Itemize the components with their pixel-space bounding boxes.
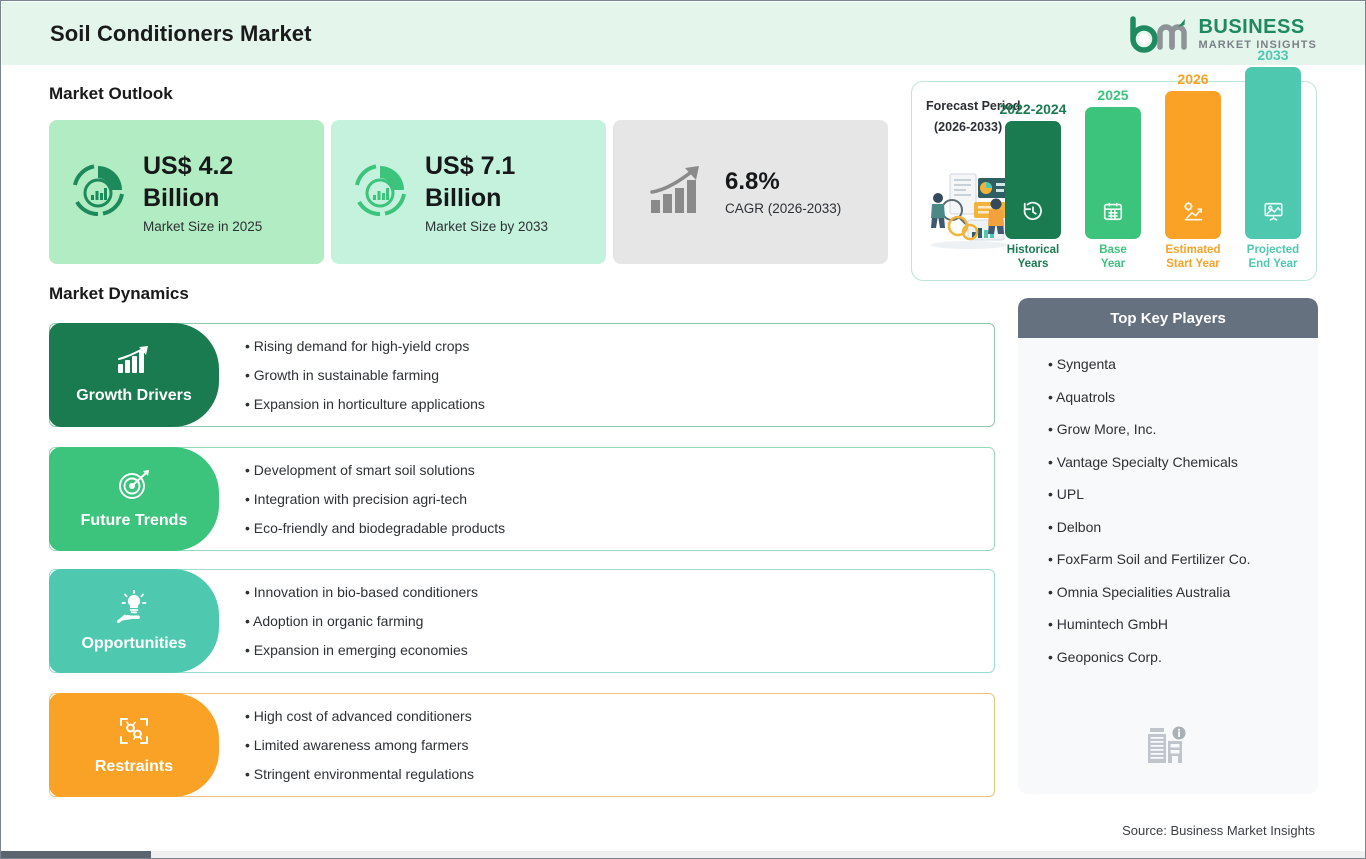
calendar-icon bbox=[1085, 200, 1141, 227]
bar-caption-line2: End Year bbox=[1245, 257, 1301, 271]
dynamics-points: • Innovation in bio-based conditioners •… bbox=[245, 569, 478, 673]
dynamics-tab-label: Restraints bbox=[95, 758, 173, 776]
dynamics-point: • Growth in sustainable farming bbox=[245, 367, 485, 383]
dynamics-tab-future-trends[interactable]: Future Trends bbox=[49, 447, 219, 551]
dynamics-points: • Development of smart soil solutions • … bbox=[245, 447, 505, 551]
dynamics-point: • Innovation in bio-based conditioners bbox=[245, 584, 478, 600]
bar-caption-line1: Base bbox=[1085, 243, 1141, 257]
forecast-bar-chart: 2022-2024 Historical Years 2025 bbox=[1001, 85, 1321, 285]
key-players-title: Top Key Players bbox=[1018, 298, 1318, 338]
dynamics-tab-label: Future Trends bbox=[81, 512, 188, 530]
page-header: Soil Conditioners Market BUSINESS MARKET… bbox=[2, 2, 1365, 65]
donut-bar-chart-icon bbox=[351, 161, 409, 224]
outlook-caption: Market Size in 2025 bbox=[143, 219, 262, 234]
bar-caption: Base Year bbox=[1085, 243, 1141, 272]
outlook-card-market-size-2033: US$ 7.1 Billion Market Size by 2033 bbox=[331, 120, 606, 264]
bar-chart-arrow-icon bbox=[117, 346, 151, 381]
scrollbar-thumb[interactable] bbox=[1, 851, 151, 858]
logo-wordmark: BUSINESS MARKET INSIGHTS bbox=[1198, 17, 1317, 51]
list-item: • Omnia Specialities Australia bbox=[1048, 584, 1318, 600]
lightbulb-hand-icon bbox=[116, 590, 152, 629]
bar-year-label: 2026 bbox=[1165, 71, 1221, 87]
bar-caption-line2: Start Year bbox=[1165, 257, 1221, 271]
list-item: • Vantage Specialty Chemicals bbox=[1048, 454, 1318, 470]
horizontal-scrollbar[interactable] bbox=[1, 851, 1366, 858]
company-building-info-icon bbox=[1146, 723, 1190, 772]
dynamics-points: • High cost of advanced conditioners • L… bbox=[245, 693, 474, 797]
bar-caption-line2: Years bbox=[1005, 257, 1061, 271]
outlook-value: US$ 4.2 bbox=[143, 150, 262, 182]
bar-caption-line1: Historical bbox=[1005, 243, 1061, 257]
dynamics-row-growth-drivers: Growth Drivers • Rising demand for high-… bbox=[49, 323, 995, 427]
dynamics-point: • Development of smart soil solutions bbox=[245, 462, 505, 478]
dynamics-point: • High cost of advanced conditioners bbox=[245, 708, 474, 724]
market-outlook-title: Market Outlook bbox=[49, 84, 173, 104]
outlook-caption: Market Size by 2033 bbox=[425, 219, 548, 234]
dynamics-point: • Adoption in organic farming bbox=[245, 613, 478, 629]
history-clock-icon bbox=[1005, 200, 1061, 227]
bar-rect bbox=[1165, 91, 1221, 239]
bar-rect bbox=[1085, 107, 1141, 239]
bar-rect bbox=[1005, 121, 1061, 239]
bar-caption-line1: Estimated bbox=[1165, 243, 1221, 257]
bar-caption-line2: Year bbox=[1085, 257, 1141, 271]
dynamics-points: • Rising demand for high-yield crops • G… bbox=[245, 323, 485, 427]
donut-bar-chart-icon bbox=[69, 161, 127, 224]
bar-caption: Estimated Start Year bbox=[1165, 243, 1221, 272]
list-item: • Geoponics Corp. bbox=[1048, 649, 1318, 665]
dynamics-point: • Limited awareness among farmers bbox=[245, 737, 474, 753]
dynamics-tab-restraints[interactable]: Restraints bbox=[49, 693, 219, 797]
top-key-players-panel: Top Key Players • Syngenta • Aquatrols •… bbox=[1018, 298, 1318, 794]
target-dart-icon bbox=[117, 469, 151, 506]
bar-rect bbox=[1245, 67, 1301, 239]
list-item: • FoxFarm Soil and Fertilizer Co. bbox=[1048, 551, 1318, 567]
brand-logo: BUSINESS MARKET INSIGHTS bbox=[1127, 15, 1349, 53]
page-title: Soil Conditioners Market bbox=[50, 21, 312, 47]
outlook-card-market-size-2025: US$ 4.2 Billion Market Size in 2025 bbox=[49, 120, 324, 264]
list-item: • Grow More, Inc. bbox=[1048, 421, 1318, 437]
dynamics-tab-label: Opportunities bbox=[82, 635, 187, 653]
presentation-chart-icon bbox=[1245, 200, 1301, 227]
network-scan-icon bbox=[117, 715, 151, 752]
outlook-unit: Billion bbox=[143, 182, 262, 214]
settings-chart-icon bbox=[1165, 200, 1221, 227]
market-dynamics-title: Market Dynamics bbox=[49, 284, 189, 304]
cagr-value: 6.8% bbox=[725, 168, 841, 196]
list-item: • UPL bbox=[1048, 486, 1318, 502]
key-players-list: • Syngenta • Aquatrols • Grow More, Inc.… bbox=[1018, 338, 1318, 665]
dynamics-row-restraints: Restraints • High cost of advanced condi… bbox=[49, 693, 995, 797]
bar-caption-line1: Projected bbox=[1245, 243, 1301, 257]
dynamics-point: • Expansion in horticulture applications bbox=[245, 396, 485, 412]
dynamics-tab-growth-drivers[interactable]: Growth Drivers bbox=[49, 323, 219, 427]
list-item: • Delbon bbox=[1048, 519, 1318, 535]
bmi-logo-icon bbox=[1127, 15, 1189, 53]
outlook-value: US$ 7.1 bbox=[425, 150, 548, 182]
dynamics-row-opportunities: Opportunities • Innovation in bio-based … bbox=[49, 569, 995, 673]
dynamics-point: • Rising demand for high-yield crops bbox=[245, 338, 485, 354]
dynamics-tab-label: Growth Drivers bbox=[76, 387, 192, 405]
list-item: • Humintech GmbH bbox=[1048, 616, 1318, 632]
cagr-caption: CAGR (2026-2033) bbox=[725, 201, 841, 216]
dynamics-point: • Integration with precision agri-tech bbox=[245, 491, 505, 507]
dynamics-point: • Eco-friendly and biodegradable product… bbox=[245, 520, 505, 536]
growth-bars-arrow-icon bbox=[649, 164, 707, 221]
outlook-unit: Billion bbox=[425, 182, 548, 214]
source-note: Source: Business Market Insights bbox=[1122, 823, 1315, 838]
dynamics-row-future-trends: Future Trends • Development of smart soi… bbox=[49, 447, 995, 551]
bar-year-label: 2022-2024 bbox=[993, 101, 1073, 117]
bar-caption: Historical Years bbox=[1005, 243, 1061, 272]
bar-year-label: 2025 bbox=[1085, 87, 1141, 103]
list-item: • Syngenta bbox=[1048, 356, 1318, 372]
dynamics-point: • Expansion in emerging economies bbox=[245, 642, 478, 658]
logo-line-business: BUSINESS bbox=[1198, 17, 1317, 37]
dynamics-point: • Stringent environmental regulations bbox=[245, 766, 474, 782]
list-item: • Aquatrols bbox=[1048, 389, 1318, 405]
outlook-card-cagr: 6.8% CAGR (2026-2033) bbox=[613, 120, 888, 264]
bar-year-label: 2033 bbox=[1245, 47, 1301, 63]
infographic-page: Soil Conditioners Market BUSINESS MARKET… bbox=[0, 0, 1366, 859]
dynamics-tab-opportunities[interactable]: Opportunities bbox=[49, 569, 219, 673]
bar-caption: Projected End Year bbox=[1245, 243, 1301, 272]
